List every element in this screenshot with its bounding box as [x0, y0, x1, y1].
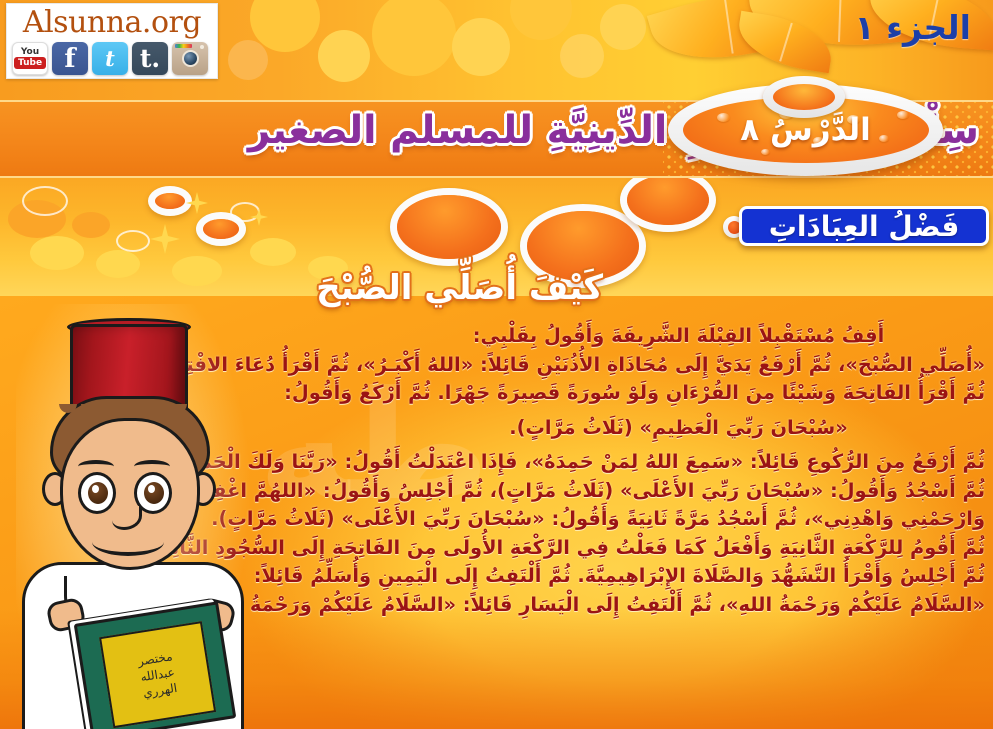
- decor-bubble: [372, 0, 456, 76]
- site-logo[interactable]: Alsunna.org You Tube f t t.: [6, 3, 218, 79]
- part-label: الجزء ١: [854, 8, 971, 47]
- facebook-icon[interactable]: f: [52, 42, 88, 75]
- lesson-line: ثُمَّ أَقُومُ لِلرَّكْعَةِ الثَّانِيَةِ …: [372, 534, 985, 562]
- book-label-line: الهرري: [142, 681, 178, 700]
- water-drop: [879, 135, 889, 142]
- lesson-line: ثُمَّ أَسْجُدُ وَأَقُولُ: «سُبْحَانَ رَب…: [372, 477, 985, 505]
- decor-bubble: [318, 30, 370, 82]
- decor-bubble: [452, 18, 510, 76]
- lesson-badge-knob: [763, 76, 845, 118]
- instagram-dot: [200, 45, 204, 49]
- lesson-line: أَقِفُ مُسْتَقْبِلاً القِبْلَةَ الشَّرِي…: [372, 322, 985, 350]
- eye-shine-right: [148, 485, 155, 493]
- lesson-page: الجزء ١ Alsunna.org You Tube f t t.: [0, 0, 993, 729]
- decor-dot-outline: [230, 202, 260, 222]
- twitter-icon[interactable]: t: [92, 42, 128, 75]
- mouth: [92, 528, 164, 556]
- lesson-line: «أُصَلِّي الصُّبْحَ»، ثُمَّ أَرْفَعُ يَد…: [372, 351, 985, 379]
- lesson-line: ثُمَّ أَرْفَعُ مِنَ الرُّكُوعِ قَائِلاً:…: [372, 448, 985, 476]
- decor-bubble: [228, 40, 268, 80]
- water-drop: [717, 113, 730, 122]
- book-label: مختصر عبدالله الهرري: [99, 621, 216, 728]
- book: مختصر عبدالله الهرري: [74, 601, 237, 729]
- decor-bubble: [560, 34, 604, 78]
- lesson-body: أَقِفُ مُسْتَقْبِلاً القِبْلَةَ الشَّرِي…: [372, 322, 985, 619]
- lesson-line: ثُمَّ أَقْرَأُ الفَاتِحَةَ وَشَيْئًا مِن…: [372, 379, 985, 407]
- facebook-glyph: f: [64, 44, 75, 74]
- youtube-label-bottom: Tube: [14, 57, 46, 69]
- decor-bubble: [510, 0, 572, 40]
- decor-ring: [148, 186, 192, 216]
- eye-shine-left: [92, 485, 99, 493]
- decor-dot-outline: [22, 186, 68, 216]
- decor-dot: [72, 212, 110, 238]
- lesson-badge-knob-inner: [773, 84, 835, 110]
- logo-text: Alsunna.org: [7, 4, 217, 40]
- decor-dot-outline: [116, 230, 150, 252]
- instagram-lens: [182, 50, 199, 67]
- instagram-strip: [175, 44, 192, 48]
- tumblr-icon[interactable]: t.: [132, 42, 168, 75]
- section-badge-text: فَضْلُ العِبَادَاتِ: [769, 210, 960, 243]
- water-drop: [897, 111, 909, 119]
- lesson-line: وَارْحَمْنِي وَاهْدِنِي»، ثُمَّ أَسْجُدُ…: [372, 505, 985, 533]
- lesson-line: ثُمَّ أَجْلِسُ وَأَقْرَأُ التَّشَهُّدَ و…: [372, 562, 985, 590]
- lesson-heading: كَيْفَ أُصَلِّي الصُّبْحَ: [316, 268, 603, 308]
- lesson-line: «سُبْحَانَ رَبِّيَ الْعَظِيمِ» (ثَلَاثُ …: [372, 414, 985, 442]
- social-links: You Tube f t t.: [7, 40, 217, 75]
- instagram-icon[interactable]: [172, 42, 208, 75]
- section-badge: فَضْلُ العِبَادَاتِ: [739, 206, 989, 246]
- youtube-icon[interactable]: You Tube: [12, 42, 48, 75]
- twitter-glyph: t: [105, 46, 115, 71]
- lesson-line: «السَّلَامُ عَلَيْكُمْ وَرَحْمَةُ اللهِ»…: [372, 591, 985, 619]
- youtube-label-top: You: [21, 48, 39, 57]
- water-drop: [761, 149, 770, 155]
- boy-with-book-illustration: مختصر عبدالله الهرري: [12, 300, 257, 729]
- tumblr-glyph: t.: [140, 44, 160, 73]
